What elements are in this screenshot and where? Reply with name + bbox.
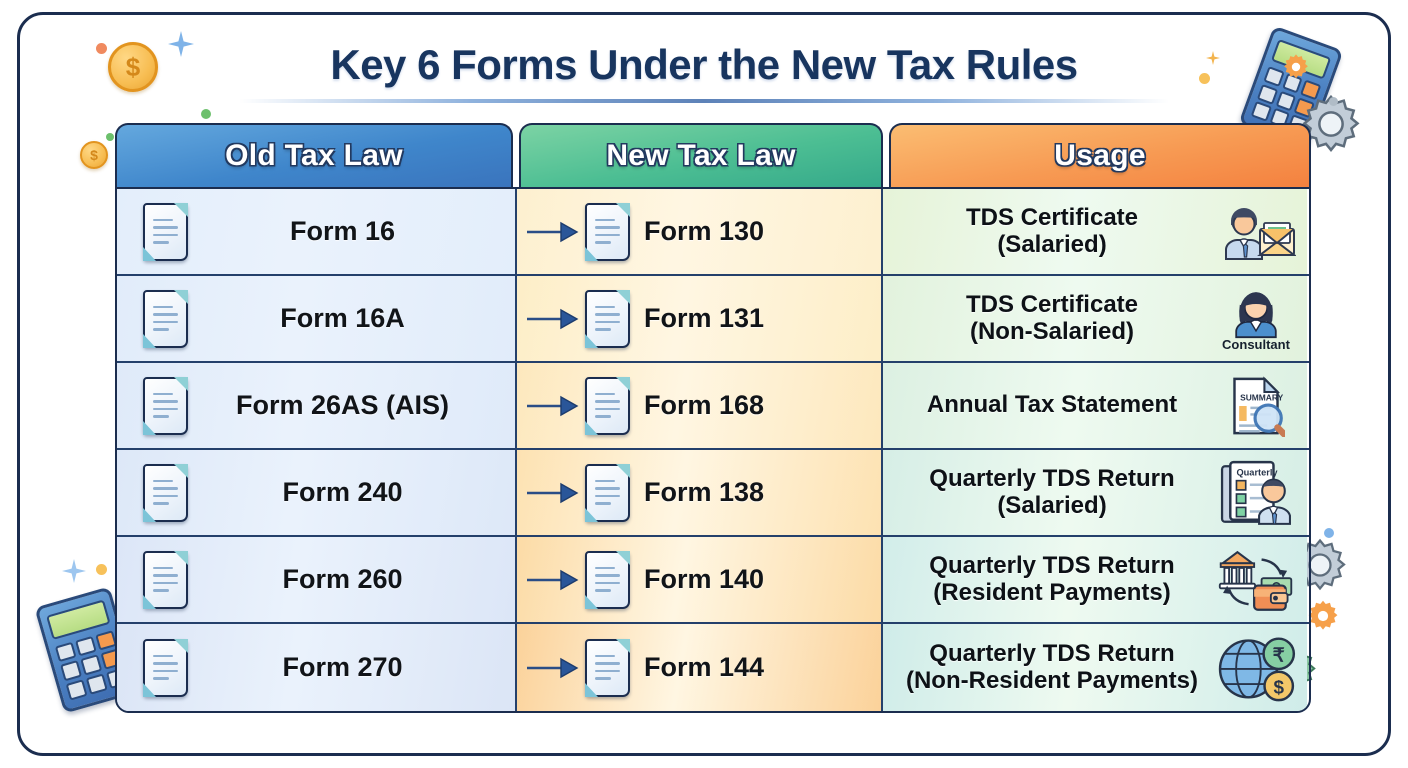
cell-old-form: Form 270 [117,624,517,711]
document-icon [585,551,630,609]
new-form-label: Form 138 [644,477,764,508]
column-header-usage: Usage [889,123,1311,187]
usage-label: Quarterly TDS Return (Salaried) [893,466,1213,520]
document-icon [143,377,188,435]
coin-symbol: $ [90,147,98,163]
bank-wallet-transfer-icon [1213,546,1299,614]
green-dot-icon [106,133,114,141]
transition-arrow-icon [527,568,585,592]
document-lines [153,655,178,685]
cell-new-form: Form 140 [517,537,883,622]
usage-icon-glyph [1216,201,1296,263]
old-form-label: Form 16A [188,303,515,334]
cell-old-form: Form 240 [117,450,517,535]
document-lines [595,655,620,685]
cell-usage: TDS Certificate (Non-Salaried)Consultant [883,276,1307,361]
employee-envelope-icon [1213,201,1299,263]
infographic-frame: Key 6 Forms Under the New Tax Rules $ $ [17,12,1391,756]
table-row: Form 240Form 138Quarterly TDS Return (Sa… [117,450,1309,537]
blue-sparkle-icon [62,559,86,583]
new-form-label: Form 144 [644,652,764,683]
transition-arrow-icon [527,481,585,505]
document-icon [143,203,188,261]
new-form-label: Form 131 [644,303,764,334]
document-lines [595,480,620,510]
document-icon [585,377,630,435]
document-lines [595,306,620,336]
cell-usage: Quarterly TDS Return (Non-Resident Payme… [883,624,1307,711]
table-row: Form 16AForm 131TDS Certificate (Non-Sal… [117,276,1309,363]
cell-old-form: Form 16 [117,189,517,274]
document-icon [143,551,188,609]
orange-gear-icon [1306,599,1340,633]
usage-icon-glyph [1217,546,1295,614]
old-form-label: Form 260 [188,564,515,595]
green-dot-icon [201,109,211,119]
document-icon [585,290,630,348]
usage-label: Quarterly TDS Return (Non-Resident Payme… [893,641,1213,695]
usage-icon-glyph [1216,633,1296,703]
title-divider [239,99,1169,103]
cell-new-form: Form 138 [517,450,883,535]
document-lines [153,393,178,423]
cell-new-form: Form 168 [517,363,883,448]
document-icon [585,639,630,697]
new-form-label: Form 168 [644,390,764,421]
table-row: Form 26AS (AIS)Form 168Annual Tax Statem… [117,363,1309,450]
document-icon [143,290,188,348]
column-header-label: Old Tax Law [225,139,403,173]
old-form-label: Form 270 [188,652,515,683]
document-lines [595,393,620,423]
transition-arrow-icon [527,307,585,331]
column-header-label: Usage [1054,139,1146,173]
document-lines [153,480,178,510]
cell-old-form: Form 26AS (AIS) [117,363,517,448]
cell-usage: Quarterly TDS Return (Salaried) [883,450,1307,535]
table-row: Form 260Form 140Quarterly TDS Return (Re… [117,537,1309,624]
yellow-dot-icon [96,564,107,575]
document-lines [153,306,178,336]
document-lines [595,567,620,597]
transition-arrow-icon [527,220,585,244]
consultant-avatar-icon: Consultant [1213,285,1299,352]
page-title: Key 6 Forms Under the New Tax Rules [20,41,1388,89]
cell-old-form: Form 16A [117,276,517,361]
table-row: Form 270Form 144Quarterly TDS Return (No… [117,624,1309,711]
document-icon [143,639,188,697]
usage-icon-glyph [1220,460,1292,526]
document-icon [585,203,630,261]
old-form-label: Form 26AS (AIS) [188,390,515,421]
new-form-label: Form 140 [644,564,764,595]
calculator-screen [47,600,111,640]
document-icon [585,464,630,522]
transition-arrow-icon [527,656,585,680]
cell-new-form: Form 130 [517,189,883,274]
globe-currency-icon [1213,633,1299,703]
quarterly-checklist-person-icon [1213,460,1299,526]
usage-label: Annual Tax Statement [893,392,1213,419]
usage-icon-glyph [1227,285,1285,339]
cell-new-form: Form 131 [517,276,883,361]
column-header-old-tax-law: Old Tax Law [115,123,513,187]
cell-usage: Quarterly TDS Return (Resident Payments) [883,537,1307,622]
old-form-label: Form 240 [188,477,515,508]
new-form-label: Form 130 [644,216,764,247]
forms-comparison-table: Old Tax Law New Tax Law Usage Form 16For… [115,123,1311,713]
document-lines [595,219,620,249]
blue-dot-icon [1324,528,1334,538]
summary-document-magnifier-icon [1213,375,1299,437]
cell-new-form: Form 144 [517,624,883,711]
cell-usage: Annual Tax Statement [883,363,1307,448]
small-coin-icon: $ [80,141,108,169]
table-header-row: Old Tax Law New Tax Law Usage [115,123,1311,187]
usage-label: Quarterly TDS Return (Resident Payments) [893,553,1213,607]
usage-icon-glyph [1227,375,1285,437]
old-form-label: Form 16 [188,216,515,247]
transition-arrow-icon [527,394,585,418]
column-header-new-tax-law: New Tax Law [519,123,883,187]
usage-label: TDS Certificate (Non-Salaried) [893,292,1213,346]
column-header-label: New Tax Law [606,139,795,173]
usage-label: TDS Certificate (Salaried) [893,205,1213,259]
document-lines [153,567,178,597]
table-row: Form 16Form 130TDS Certificate (Salaried… [117,189,1309,276]
table-body: Form 16Form 130TDS Certificate (Salaried… [115,187,1311,713]
document-icon [143,464,188,522]
document-lines [153,219,178,249]
cell-old-form: Form 260 [117,537,517,622]
icon-caption: Consultant [1222,337,1290,352]
cell-usage: TDS Certificate (Salaried) [883,189,1307,274]
title-block: Key 6 Forms Under the New Tax Rules [20,41,1388,103]
